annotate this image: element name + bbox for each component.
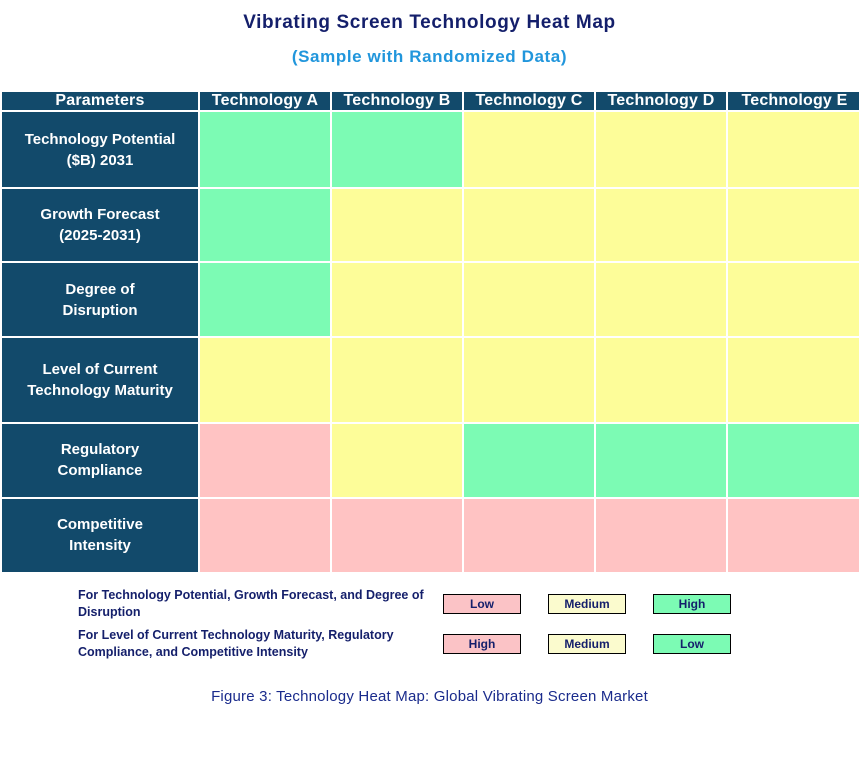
page-subtitle: (Sample with Randomized Data): [0, 44, 859, 70]
heatmap-cell: [199, 423, 331, 498]
heatmap-cell: [199, 111, 331, 188]
row-label-2: Growth Forecast(2025-2031): [1, 188, 199, 262]
header-technology-b: Technology B: [331, 91, 463, 111]
heatmap-container: Parameters Technology A Technology B Tec…: [0, 90, 859, 574]
legend-swatch-medium-1: Medium: [548, 594, 626, 614]
heatmap-cell: [463, 337, 595, 423]
heatmap-row: RegulatoryCompliance: [1, 423, 859, 498]
title-block: Vibrating Screen Technology Heat Map (Sa…: [0, 0, 859, 70]
heatmap-cell: [595, 111, 727, 188]
heatmap-row: Technology Potential($B) 2031: [1, 111, 859, 188]
heatmap-cell: [331, 188, 463, 262]
figure-caption: Figure 3: Technology Heat Map: Global Vi…: [0, 688, 859, 705]
row-label-line: (2025-2031): [6, 225, 194, 246]
legend-description-2: For Level of Current Technology Maturity…: [78, 627, 443, 661]
row-label-line: Degree of: [6, 279, 194, 300]
heatmap-cell: [199, 337, 331, 423]
heatmap-cell: [595, 498, 727, 573]
heatmap-cell: [727, 337, 859, 423]
row-label-4: Level of CurrentTechnology Maturity: [1, 337, 199, 423]
heatmap-cell: [463, 423, 595, 498]
heatmap-cell: [331, 111, 463, 188]
heatmap-cell: [595, 188, 727, 262]
legend-row-2: For Level of Current Technology Maturity…: [0, 624, 859, 664]
row-label-line: Disruption: [6, 300, 194, 321]
header-technology-c: Technology C: [463, 91, 595, 111]
header-technology-a: Technology A: [199, 91, 331, 111]
row-label-line: Regulatory: [6, 439, 194, 460]
legend-swatch-medium-2: Medium: [548, 634, 626, 654]
legend: For Technology Potential, Growth Forecas…: [0, 584, 859, 670]
legend-swatches-2: High Medium Low: [443, 634, 731, 654]
row-label-line: Level of Current: [6, 359, 194, 380]
heatmap-cell: [595, 423, 727, 498]
heatmap-cell: [199, 498, 331, 573]
heatmap-row: Level of CurrentTechnology Maturity: [1, 337, 859, 423]
legend-swatch-low-2: Low: [653, 634, 731, 654]
row-label-line: Intensity: [6, 535, 194, 556]
heatmap-cell: [595, 262, 727, 337]
heatmap-cell: [463, 498, 595, 573]
legend-swatch-high-1: High: [653, 594, 731, 614]
heatmap-cell: [463, 188, 595, 262]
heatmap-cell: [331, 337, 463, 423]
heatmap-cell: [595, 337, 727, 423]
page-title: Vibrating Screen Technology Heat Map: [0, 10, 859, 36]
heatmap-cell: [727, 423, 859, 498]
row-label-line: Technology Potential: [6, 129, 194, 150]
heatmap-body: Technology Potential($B) 2031Growth Fore…: [1, 111, 859, 573]
heatmap-cell: [463, 262, 595, 337]
row-label-1: Technology Potential($B) 2031: [1, 111, 199, 188]
heatmap-cell: [727, 262, 859, 337]
heatmap-cell: [331, 498, 463, 573]
row-label-line: Competitive: [6, 514, 194, 535]
row-label-3: Degree ofDisruption: [1, 262, 199, 337]
header-technology-d: Technology D: [595, 91, 727, 111]
heatmap-cell: [331, 423, 463, 498]
row-label-line: ($B) 2031: [6, 150, 194, 171]
legend-swatches-1: Low Medium High: [443, 594, 731, 614]
legend-swatch-low-1: Low: [443, 594, 521, 614]
legend-swatch-high-2: High: [443, 634, 521, 654]
row-label-line: Technology Maturity: [6, 380, 194, 401]
heatmap-row: Degree ofDisruption: [1, 262, 859, 337]
row-label-6: CompetitiveIntensity: [1, 498, 199, 573]
heatmap-cell: [199, 188, 331, 262]
heatmap-row: CompetitiveIntensity: [1, 498, 859, 573]
row-label-5: RegulatoryCompliance: [1, 423, 199, 498]
heatmap-cell: [463, 111, 595, 188]
heatmap-cell: [199, 262, 331, 337]
legend-row-1: For Technology Potential, Growth Forecas…: [0, 584, 859, 624]
heatmap-cell: [727, 188, 859, 262]
heatmap-table: Parameters Technology A Technology B Tec…: [0, 90, 859, 574]
header-technology-e: Technology E: [727, 91, 859, 111]
heatmap-cell: [727, 111, 859, 188]
legend-description-1: For Technology Potential, Growth Forecas…: [78, 587, 443, 621]
heatmap-cell: [331, 262, 463, 337]
heatmap-header-row: Parameters Technology A Technology B Tec…: [1, 91, 859, 111]
header-parameters: Parameters: [1, 91, 199, 111]
heatmap-cell: [727, 498, 859, 573]
row-label-line: Growth Forecast: [6, 204, 194, 225]
row-label-line: Compliance: [6, 460, 194, 481]
heatmap-row: Growth Forecast(2025-2031): [1, 188, 859, 262]
